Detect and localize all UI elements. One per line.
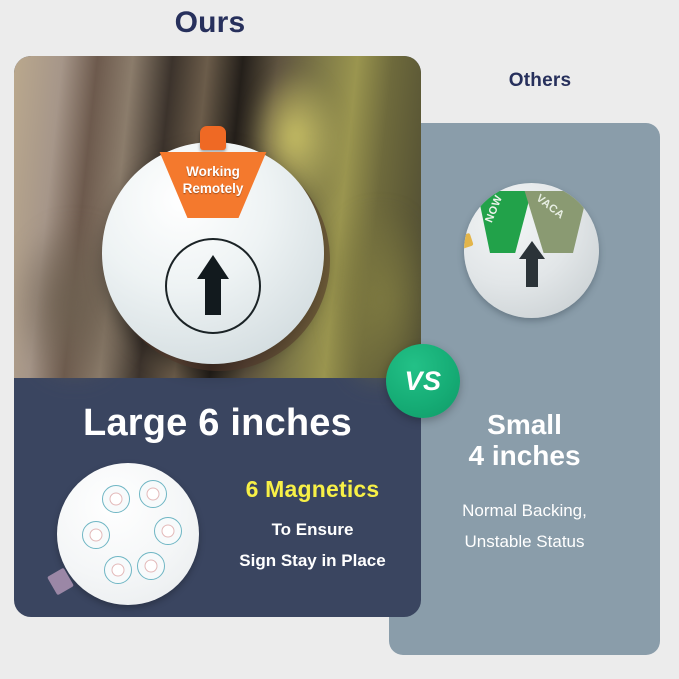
ours-product-photo: Working Remotely	[14, 56, 421, 378]
ours-large-sign: Working Remotely	[102, 142, 324, 364]
ours-sign-hanger	[200, 126, 226, 150]
ours-arrow-circle	[165, 238, 261, 334]
magnet-icon	[139, 480, 167, 508]
ours-disc-tab	[47, 568, 74, 596]
others-text-block: Small 4 inches Normal Backing, Unstable …	[389, 383, 660, 655]
vs-badge: VS	[386, 344, 460, 418]
others-small-sign: NOW VACA	[464, 183, 599, 318]
ours-heading: Ours	[0, 6, 420, 40]
vs-label: VS	[404, 366, 441, 397]
magnet-icon	[154, 517, 182, 545]
others-size-text: Small 4 inches	[389, 409, 660, 472]
ours-magnet-disc	[57, 463, 199, 605]
magnetics-title: 6 Magnetics	[204, 476, 421, 503]
magnet-icon	[82, 521, 110, 549]
magnet-icon	[137, 552, 165, 580]
ours-status-label: Working Remotely	[148, 164, 278, 198]
ours-text-block: Large 6 inches 6 Magnetics To Ensure Sig…	[14, 378, 421, 617]
magnet-icon	[104, 556, 132, 584]
magnet-icon	[102, 485, 130, 513]
ours-size-text: Large 6 inches	[14, 402, 421, 445]
ours-card: Working Remotely Large 6 inches	[14, 56, 421, 617]
magnetics-description: To Ensure Sign Stay in Place	[204, 514, 421, 577]
others-heading: Others	[420, 70, 660, 92]
comparison-infographic: Ours Others NOW VACA Small 4 inches Norm…	[0, 0, 679, 679]
others-description-text: Normal Backing, Unstable Status	[389, 495, 660, 558]
